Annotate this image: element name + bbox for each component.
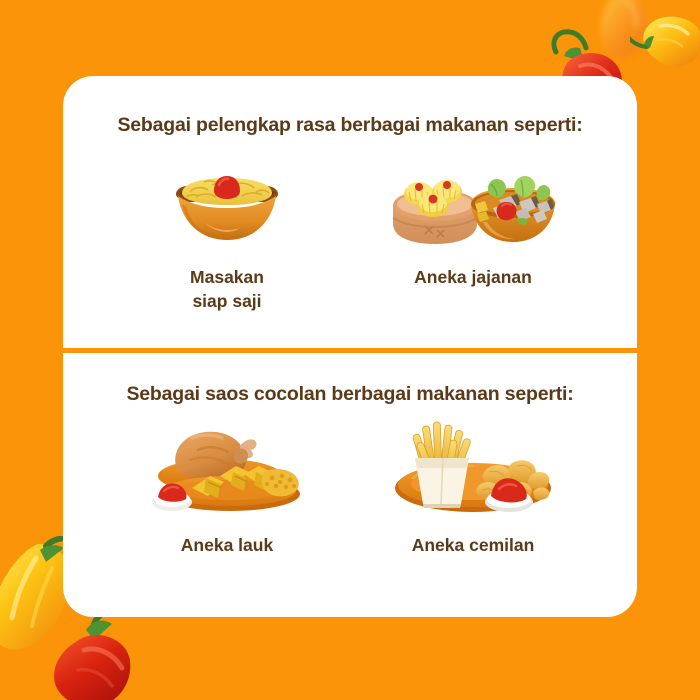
item-label-aneka-lauk: Aneka lauk <box>181 534 273 558</box>
section-2-items: Aneka lauk <box>63 416 637 558</box>
section-2-heading: Sebagai saos cocolan berbagai makanan se… <box>126 383 573 406</box>
poster-canvas: Sebagai pelengkap rasa berbagai makanan … <box>0 0 700 700</box>
section-1-heading: Sebagai pelengkap rasa berbagai makanan … <box>117 114 582 137</box>
item-label-aneka-jajanan: Aneka jajanan <box>414 266 532 290</box>
item-label-aneka-cemilan: Aneka cemilan <box>412 534 535 558</box>
red-habanero-pepper-bottom-icon <box>24 608 156 700</box>
noodle-bowl-illustration <box>168 147 286 252</box>
item-label-masakan-siap-saji: Masakan siap saji <box>190 266 264 313</box>
section-1-items: Masakan siap saji <box>63 147 637 313</box>
section-pelengkap-rasa: Sebagai pelengkap rasa berbagai makanan … <box>63 76 637 348</box>
item-aneka-lauk[interactable]: Aneka lauk <box>104 416 350 558</box>
section-saos-cocolan: Sebagai saos cocolan berbagai makanan se… <box>63 353 637 617</box>
content-card: Sebagai pelengkap rasa berbagai makanan … <box>63 76 637 617</box>
yellow-habanero-pepper-icon <box>630 2 700 80</box>
item-masakan-siap-saji[interactable]: Masakan siap saji <box>104 147 350 313</box>
roast-chicken-plate-illustration <box>136 416 318 516</box>
orange-pepper-blurred-icon <box>578 0 668 68</box>
item-aneka-cemilan[interactable]: Aneka cemilan <box>350 416 596 558</box>
item-aneka-jajanan[interactable]: Aneka jajanan <box>350 147 596 313</box>
fries-and-nuggets-plate-illustration <box>391 416 555 516</box>
steamer-and-batagor-bowl-illustration <box>389 147 557 252</box>
